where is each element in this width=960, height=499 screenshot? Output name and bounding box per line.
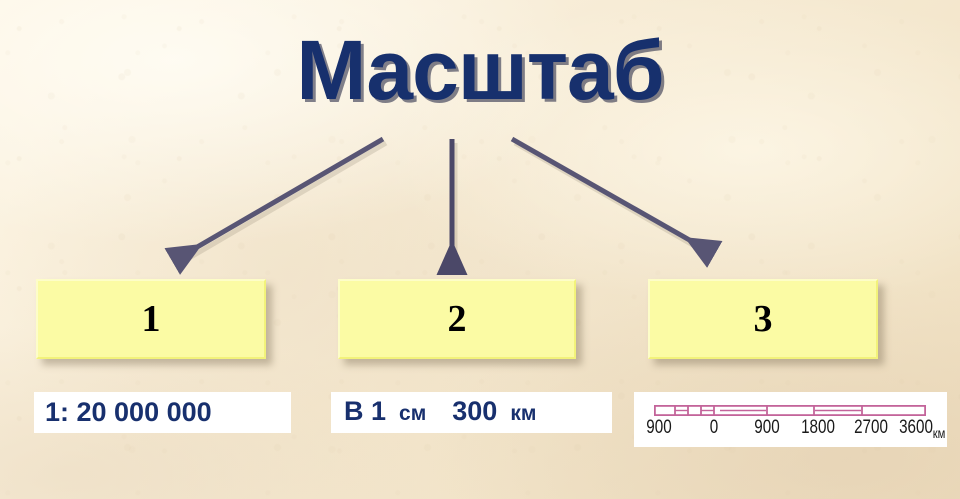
caption-linear-scale: 900 0 900 1800 2700 3600 км	[634, 392, 947, 447]
named-scale-unit-large: км	[510, 402, 536, 425]
named-scale-unit-small: см	[399, 402, 426, 425]
scale-tick-label: 2700	[848, 417, 894, 439]
arrow-left	[180, 139, 383, 257]
scale-unit-label: км	[929, 422, 950, 444]
numeric-scale-text: 1: 20 000 000	[45, 398, 212, 427]
slide-canvas: Масштаб 1 2 3 1	[0, 0, 960, 499]
box-number-label: 2	[448, 300, 467, 338]
scalebar-wrap: 900 0 900 1800 2700 3600 км	[634, 392, 947, 447]
numbered-box-3[interactable]: 3	[648, 279, 878, 359]
numbered-box-2[interactable]: 2	[338, 279, 576, 359]
numbered-box-1[interactable]: 1	[36, 279, 266, 359]
named-scale-text: В 1см300км	[344, 397, 536, 428]
scalebar-labels: 900 0 900 1800 2700 3600 км	[634, 417, 947, 441]
caption-numeric-scale: 1: 20 000 000	[34, 392, 291, 433]
linear-scale-bar	[654, 405, 926, 416]
named-scale-value: 300	[452, 396, 497, 426]
named-scale-prefix: В 1	[344, 396, 386, 426]
box-number-label: 3	[754, 300, 773, 338]
caption-named-scale: В 1см300км	[331, 392, 612, 433]
arrow-right	[512, 139, 707, 250]
scale-tick-label: 1800	[795, 417, 841, 439]
page-title: Масштаб	[0, 22, 960, 118]
box-number-label: 1	[142, 300, 161, 338]
scale-tick-label: 900	[641, 417, 678, 439]
scale-tick-label: 0	[696, 417, 733, 439]
scale-tick-label: 900	[749, 417, 786, 439]
